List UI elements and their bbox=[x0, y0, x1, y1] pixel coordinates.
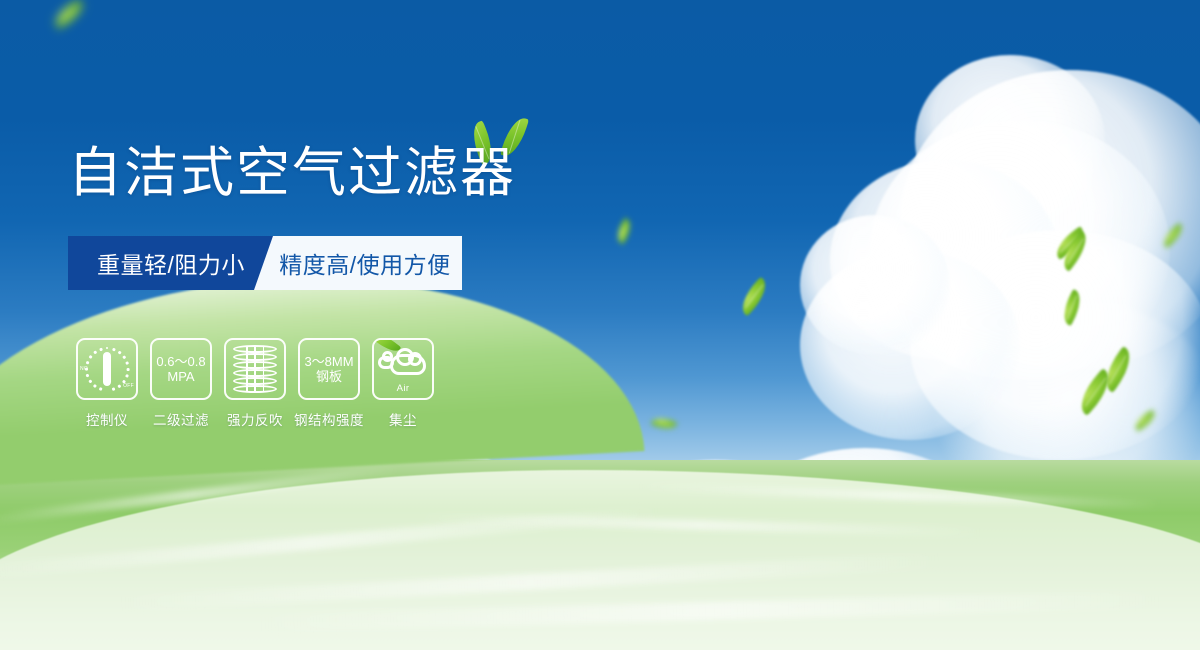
subtitle-left-text: 重量轻/阻力小 bbox=[97, 246, 245, 280]
floating-leaf bbox=[50, 0, 88, 29]
feature-label: 集尘 bbox=[389, 409, 417, 429]
floating-leaf bbox=[1097, 346, 1138, 393]
air-cloud-icon: Air bbox=[378, 346, 428, 392]
floating-leaf bbox=[1072, 368, 1118, 416]
feature-icon-box: 0.6～0.8 MPA bbox=[150, 338, 212, 400]
feature-list: NO OFF 控制仪 0.6～0.8 MPA 二级过滤 bbox=[76, 338, 434, 429]
feature-icon-box: Air bbox=[372, 338, 434, 400]
control-dial-icon: NO OFF bbox=[81, 343, 133, 395]
feature-item-steel[interactable]: 3～8MM 钢板 钢结构强度 bbox=[298, 338, 360, 429]
feature-item-blowback[interactable]: 强力反吹 bbox=[224, 338, 286, 429]
dial-off-label: OFF bbox=[123, 383, 134, 389]
floating-leaf bbox=[613, 218, 636, 245]
dial-no-label: NO bbox=[80, 366, 88, 372]
pressure-text-icon: 0.6～0.8 MPA bbox=[156, 354, 205, 385]
cloud-mass bbox=[800, 215, 950, 355]
cloud-mass bbox=[910, 230, 1200, 460]
subtitle-right-panel: 精度高/使用方便 bbox=[254, 236, 462, 290]
steel-material: 钢板 bbox=[304, 369, 353, 384]
feature-label: 控制仪 bbox=[86, 409, 128, 429]
cloud-mass bbox=[800, 250, 1020, 440]
floating-leaf bbox=[1051, 226, 1090, 260]
feature-icon-box: NO OFF bbox=[76, 338, 138, 400]
subtitle-left-panel: 重量轻/阻力小 bbox=[68, 236, 274, 290]
floating-leaf bbox=[1056, 230, 1093, 271]
steel-text-icon: 3～8MM 钢板 bbox=[304, 354, 353, 385]
feature-label: 强力反吹 bbox=[227, 409, 283, 429]
floating-leaf bbox=[1160, 223, 1187, 248]
air-label: Air bbox=[378, 383, 428, 394]
cloud-mass bbox=[900, 70, 1200, 370]
cloud-mass bbox=[830, 160, 1060, 360]
page-title: 自洁式空气过滤器 bbox=[68, 146, 516, 200]
cloud-mass bbox=[870, 120, 1170, 380]
feature-item-filtration[interactable]: 0.6～0.8 MPA 二级过滤 bbox=[150, 338, 212, 429]
cloud-mass bbox=[915, 55, 1105, 225]
dial-pointer-icon bbox=[103, 352, 111, 386]
floating-leaf bbox=[735, 277, 773, 316]
pressure-value: 0.6～0.8 bbox=[156, 354, 205, 369]
subtitle-right-text: 精度高/使用方便 bbox=[265, 246, 450, 280]
feature-item-control[interactable]: NO OFF 控制仪 bbox=[76, 338, 138, 429]
feature-item-dust[interactable]: Air 集尘 bbox=[372, 338, 434, 429]
floating-leaf bbox=[1057, 289, 1086, 326]
feature-label: 钢结构强度 bbox=[294, 409, 364, 429]
pressure-unit: MPA bbox=[156, 369, 205, 384]
promo-banner: 自洁式空气过滤器 重量轻/阻力小 精度高/使用方便 bbox=[0, 0, 1200, 650]
feature-label: 二级过滤 bbox=[153, 409, 209, 429]
coil-filter-icon bbox=[233, 345, 277, 393]
floating-leaf bbox=[1132, 410, 1158, 432]
feature-icon-box bbox=[224, 338, 286, 400]
steel-thickness: 3～8MM bbox=[304, 354, 353, 369]
subtitle-bar: 重量轻/阻力小 精度高/使用方便 bbox=[68, 236, 462, 290]
feature-icon-box: 3～8MM 钢板 bbox=[298, 338, 360, 400]
